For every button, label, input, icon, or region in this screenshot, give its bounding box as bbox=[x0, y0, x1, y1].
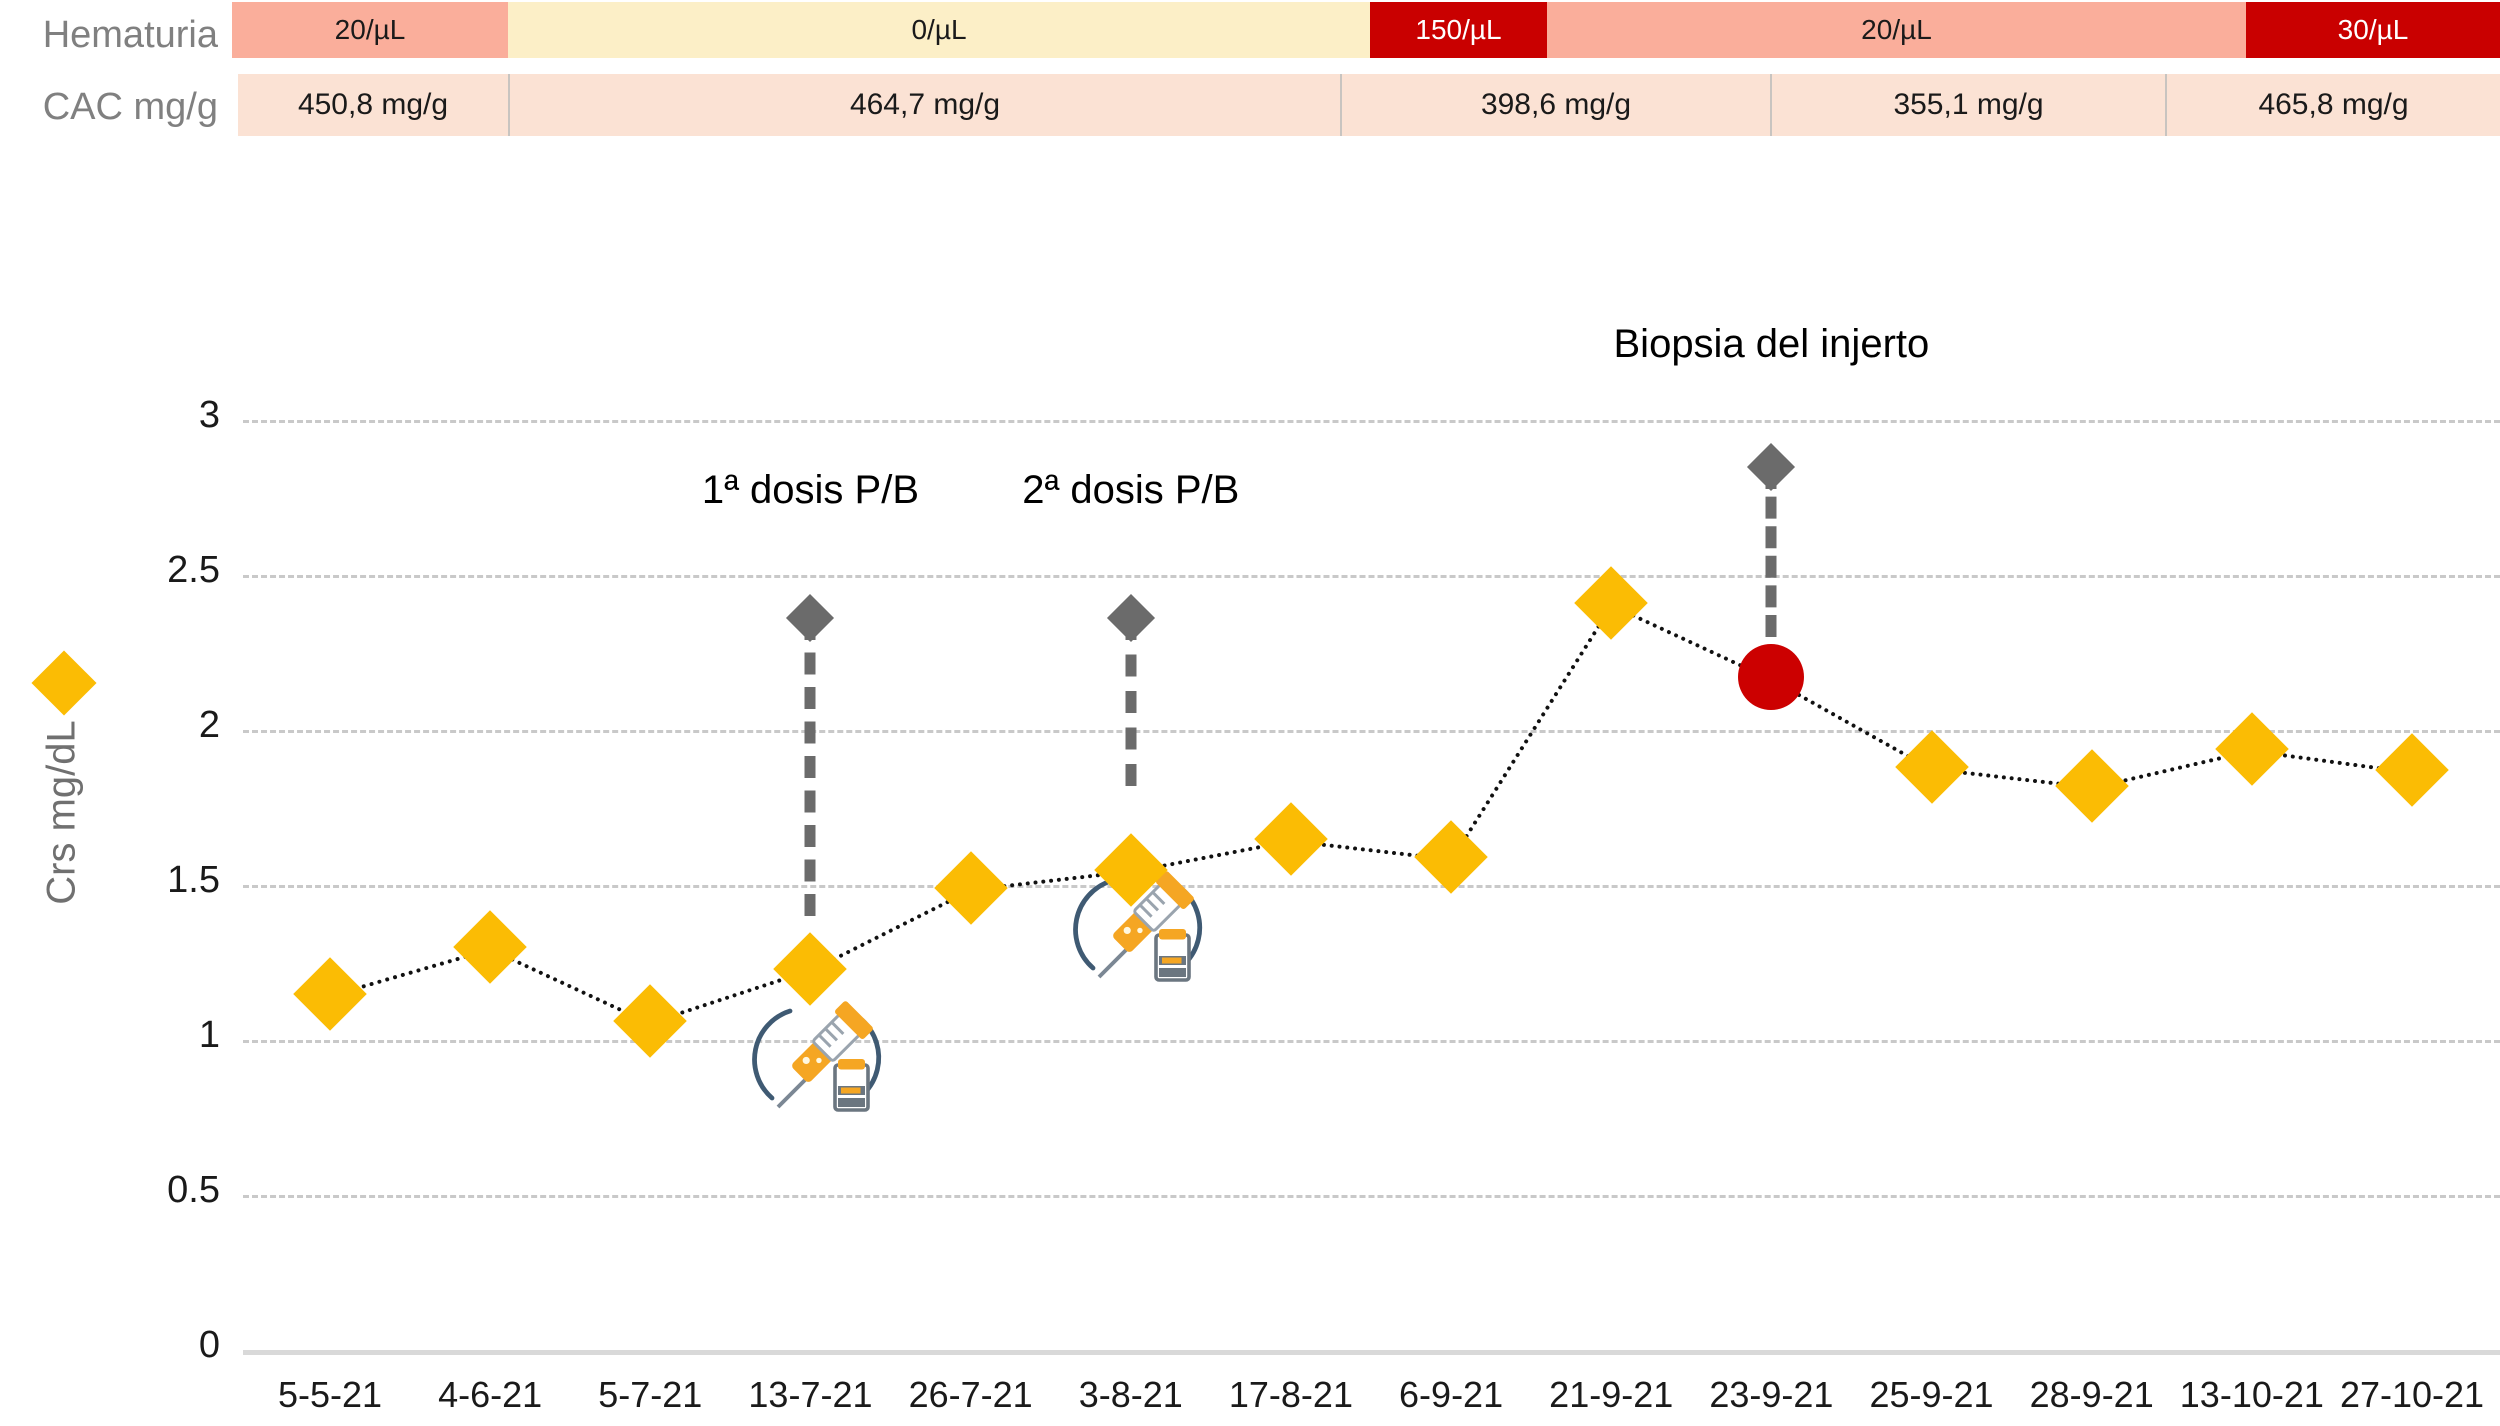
x-axis-tick-label: 27-10-21 bbox=[2302, 1374, 2500, 1416]
data-point[interactable] bbox=[2375, 734, 2449, 808]
annotation-label: 1ª dosis P/B bbox=[702, 468, 919, 513]
data-point[interactable] bbox=[1254, 802, 1328, 876]
gridline bbox=[243, 730, 2500, 733]
y-axis-tick-label: 0 bbox=[80, 1324, 220, 1367]
annotation-stem bbox=[1766, 467, 1777, 638]
y-axis-tick-label: 2 bbox=[80, 704, 220, 747]
y-axis-tick-label: 1 bbox=[80, 1014, 220, 1057]
annotation-label: 2ª dosis P/B bbox=[1022, 468, 1239, 513]
x-axis-line bbox=[243, 1350, 2500, 1355]
gridline bbox=[243, 575, 2500, 578]
y-axis-tick-label: 1.5 bbox=[80, 859, 220, 902]
crs-timeline-chart: Crs mg/dL 00.511.522.53 5-5-214-6-215-7-… bbox=[0, 0, 2500, 1426]
data-point[interactable] bbox=[2215, 712, 2289, 786]
annotation-marker bbox=[786, 594, 834, 642]
data-point-highlight[interactable] bbox=[1738, 644, 1804, 710]
gridline bbox=[243, 885, 2500, 888]
gridline bbox=[243, 420, 2500, 423]
annotation-marker bbox=[1107, 594, 1155, 642]
gridline bbox=[243, 1195, 2500, 1198]
data-point[interactable] bbox=[2055, 749, 2129, 823]
annotation-label: Biopsia del injerto bbox=[1614, 322, 1930, 367]
data-point[interactable] bbox=[614, 985, 688, 1059]
data-point[interactable] bbox=[453, 910, 527, 984]
y-axis-tick-label: 2.5 bbox=[80, 549, 220, 592]
y-axis-tick-label: 0.5 bbox=[80, 1169, 220, 1212]
gridline bbox=[243, 1040, 2500, 1043]
y-axis-tick-label: 3 bbox=[80, 394, 220, 437]
data-point[interactable] bbox=[1414, 820, 1488, 894]
annotation-marker bbox=[1747, 442, 1795, 490]
annotation-stem bbox=[805, 618, 816, 916]
data-point[interactable] bbox=[293, 957, 367, 1031]
data-point[interactable] bbox=[1895, 730, 1969, 804]
data-point[interactable] bbox=[934, 851, 1008, 925]
annotation-stem bbox=[1125, 618, 1136, 785]
syringe-vial-icon bbox=[745, 981, 895, 1131]
